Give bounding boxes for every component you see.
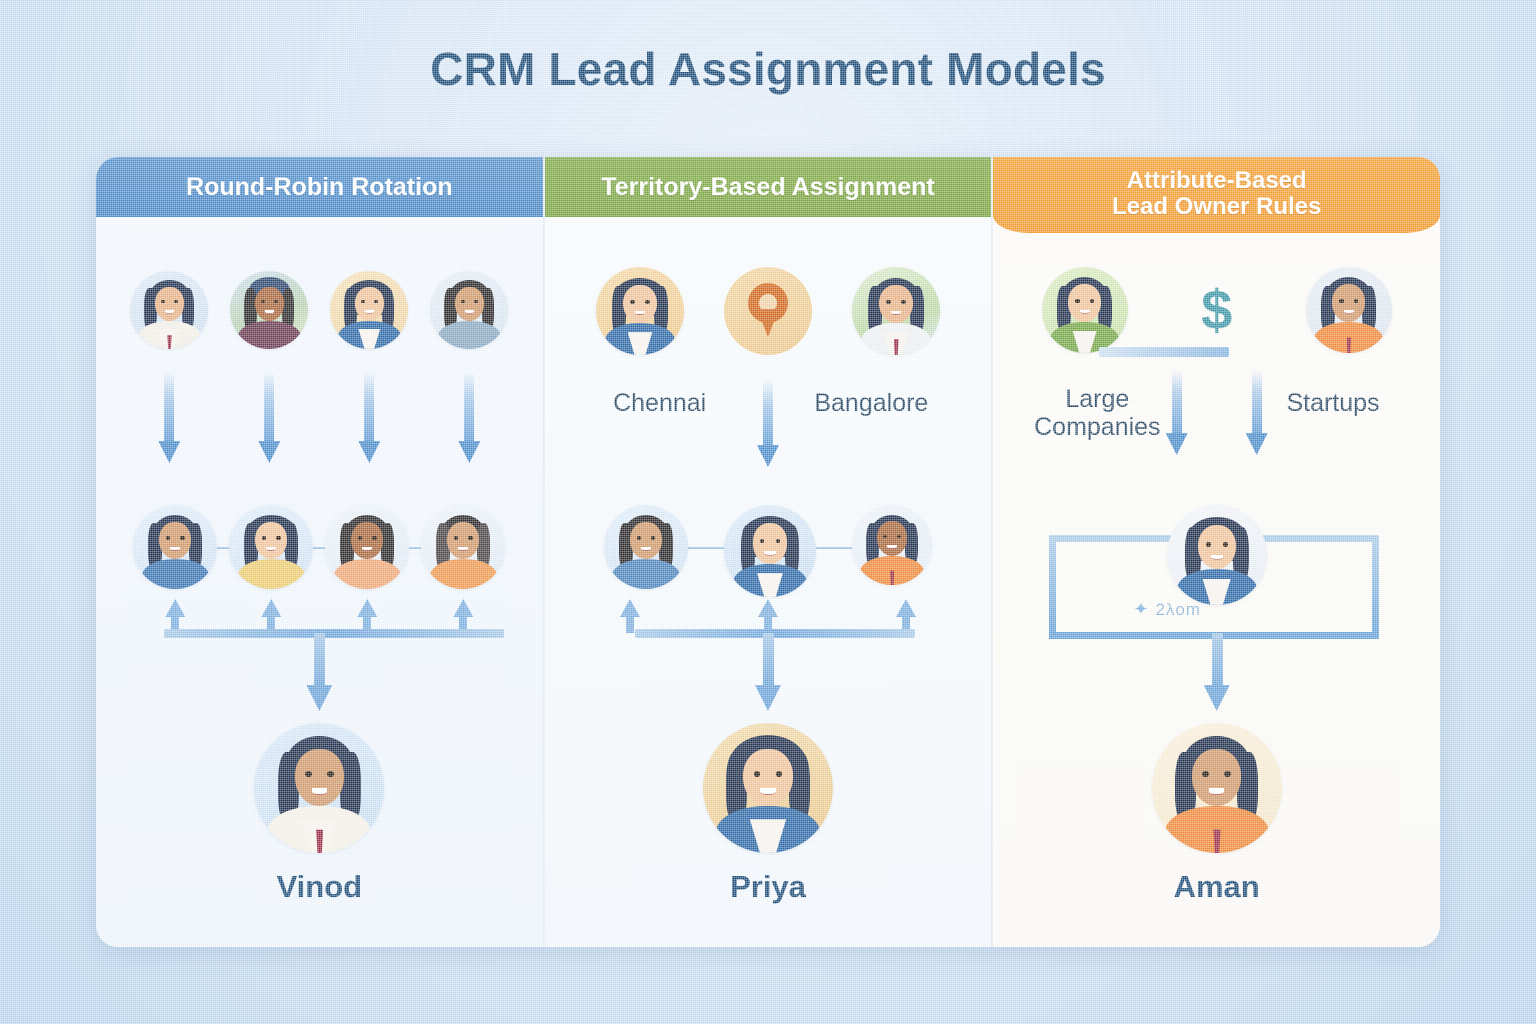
result-arrow xyxy=(993,633,1440,711)
column-round-robin: Round-Robin Rotation xyxy=(96,157,543,947)
avatar-source-3[interactable] xyxy=(330,271,408,349)
avatar-queue-3[interactable] xyxy=(325,505,409,589)
avatar-rule-owner[interactable] xyxy=(1167,505,1267,605)
arrow-down-icon xyxy=(755,633,781,711)
avatar-territory-chennai[interactable] xyxy=(596,267,684,355)
distribute-arrow-row xyxy=(96,371,543,463)
column-header-round-robin: Round-Robin Rotation xyxy=(96,157,543,217)
arrow-up-icon xyxy=(165,599,185,633)
queue-avatar-row xyxy=(545,505,992,597)
arrow-down-icon xyxy=(258,371,280,463)
arrow-down-icon xyxy=(306,633,332,711)
avatar-queue-2[interactable] xyxy=(229,505,313,589)
arrow-down-icon xyxy=(358,371,380,463)
result-arrow xyxy=(96,633,543,711)
column-territory-based: Territory-Based Assignment Chennai Banga… xyxy=(543,157,992,947)
diagram-board: Round-Robin Rotation xyxy=(96,157,1440,947)
avatar-territory-bangalore[interactable] xyxy=(852,267,940,355)
converge-arrow-row xyxy=(545,599,992,633)
avatar-queue-3[interactable] xyxy=(852,505,932,585)
header-line-1: Attribute-Based xyxy=(1112,168,1321,194)
arrow-down-icon xyxy=(1246,369,1268,455)
distribute-arrow xyxy=(545,379,992,467)
arrow-up-icon xyxy=(261,599,281,633)
queue-avatar-row xyxy=(96,505,543,589)
map-pin-icon xyxy=(724,267,812,355)
page-title: CRM Lead Assignment Models xyxy=(0,42,1536,96)
avatar-result-priya[interactable] xyxy=(703,723,833,853)
arrow-down-icon xyxy=(158,371,180,463)
avatar-queue-1[interactable] xyxy=(604,505,688,589)
arrow-up-icon xyxy=(896,599,916,633)
avatar-large-companies[interactable] xyxy=(1042,267,1128,353)
avatar-source-1[interactable] xyxy=(130,271,208,349)
result-avatar-wrap xyxy=(993,723,1440,853)
attribute-bar xyxy=(1099,347,1229,357)
header-line-2: Lead Owner Rules xyxy=(1112,194,1321,220)
avatar-queue-1[interactable] xyxy=(133,505,217,589)
arrow-up-icon xyxy=(357,599,377,633)
avatar-result-aman[interactable] xyxy=(1152,723,1282,853)
arrow-up-icon xyxy=(620,599,640,633)
avatar-source-2[interactable] xyxy=(230,271,308,349)
avatar-queue-4[interactable] xyxy=(421,505,505,589)
arrow-down-icon xyxy=(458,371,480,463)
result-name-aman: Aman xyxy=(993,869,1440,905)
column-attribute-based: Attribute-Based Lead Owner Rules $ xyxy=(991,157,1440,947)
avatar-source-4[interactable] xyxy=(430,271,508,349)
column-header-territory-based: Territory-Based Assignment xyxy=(545,157,992,217)
avatar-queue-2[interactable] xyxy=(724,505,816,597)
result-name-priya: Priya xyxy=(545,869,992,905)
source-avatar-row xyxy=(96,271,543,349)
avatar-result-vinod[interactable] xyxy=(254,723,384,853)
source-row: $ xyxy=(993,267,1440,353)
column-header-attribute-based: Attribute-Based Lead Owner Rules xyxy=(993,157,1440,233)
queue-avatar-row xyxy=(993,505,1440,605)
arrow-down-icon xyxy=(757,379,779,467)
dollar-glyph: $ xyxy=(1201,282,1232,338)
result-avatar-wrap xyxy=(545,723,992,853)
dollar-icon: $ xyxy=(1178,271,1256,349)
arrow-down-icon xyxy=(1204,633,1230,711)
arrow-up-icon xyxy=(758,599,778,633)
distribute-arrow-row xyxy=(993,369,1440,455)
arrow-down-icon xyxy=(1166,369,1188,455)
avatar-startups[interactable] xyxy=(1306,267,1392,353)
result-arrow xyxy=(545,633,992,711)
result-avatar-wrap xyxy=(96,723,543,853)
result-name-vinod: Vinod xyxy=(96,869,543,905)
converge-arrow-row xyxy=(96,599,543,633)
arrow-up-icon xyxy=(453,599,473,633)
source-row xyxy=(545,267,992,355)
